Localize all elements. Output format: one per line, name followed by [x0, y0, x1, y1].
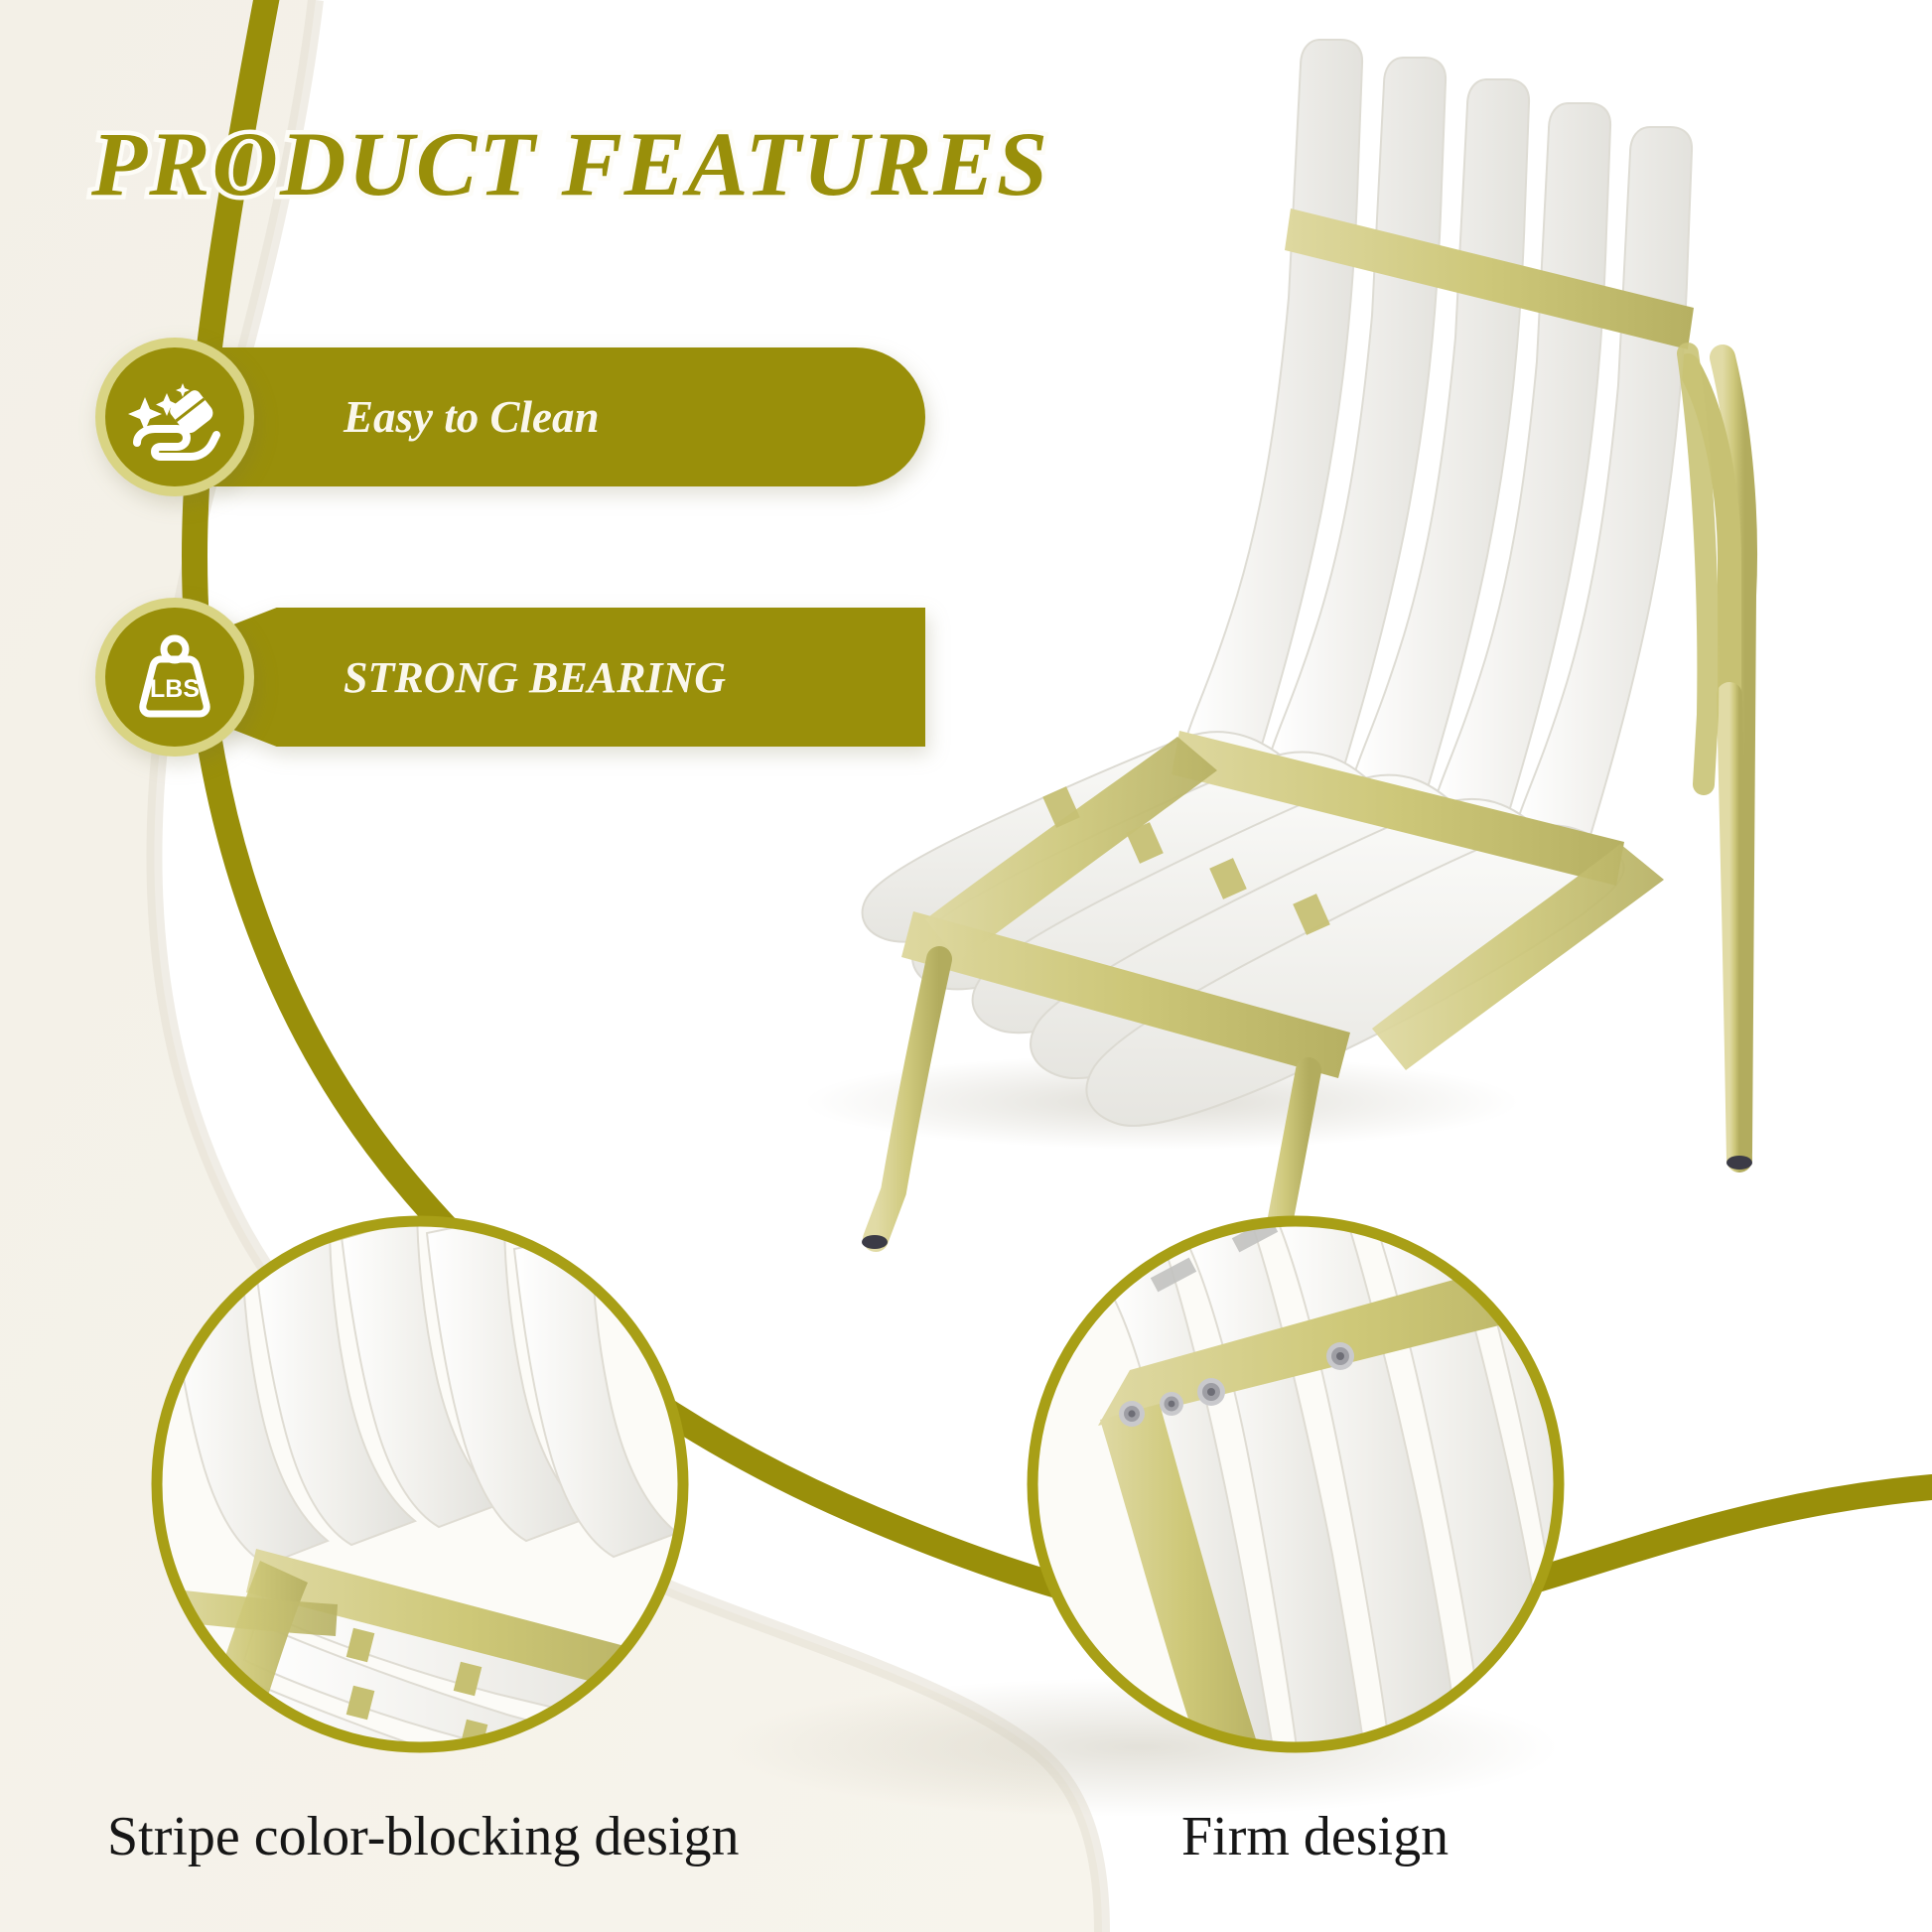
detail-caption-right: Firm design	[1181, 1805, 1449, 1868]
detail-circles-layer	[0, 0, 1932, 1932]
detail-caption-left: Stripe color-blocking design	[107, 1805, 740, 1868]
feature-pill-2: STRONG BEARING	[212, 608, 925, 747]
feature-label-1: Easy to Clean	[344, 391, 600, 443]
weight-lbs-icon: LBS	[105, 608, 244, 747]
hand-sponge-sparkle-icon	[105, 347, 244, 486]
feature-pill-1: Easy to Clean	[212, 347, 925, 486]
infographic-canvas: PRODUCT FEATURES Easy to Clean	[0, 0, 1932, 1932]
detail-circle-right	[1023, 1104, 1606, 1787]
feature-label-2: STRONG BEARING	[344, 652, 726, 703]
weight-icon-text: LBS	[150, 675, 200, 703]
page-title: PRODUCT FEATURES	[91, 111, 1049, 216]
detail-circle-left	[145, 1096, 705, 1847]
